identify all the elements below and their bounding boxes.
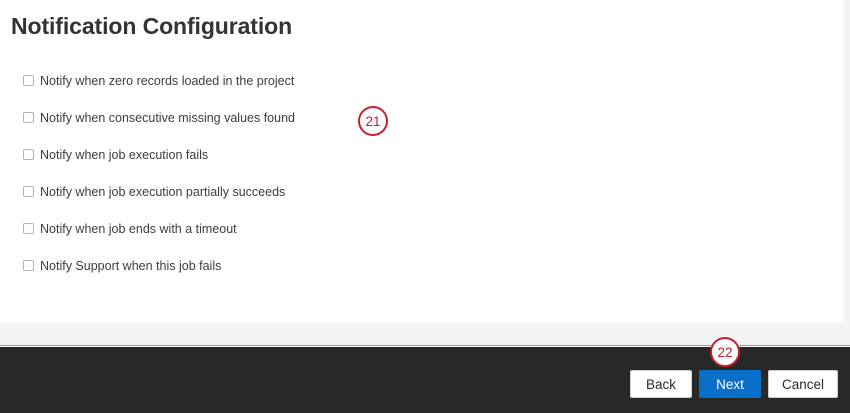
cancel-button[interactable]: Cancel	[768, 370, 838, 398]
right-edge-strip	[844, 0, 850, 322]
checkbox-notify-support[interactable]	[23, 260, 34, 271]
annotation-badge-21: 21	[358, 106, 388, 136]
checkbox-consecutive-missing-values[interactable]	[23, 112, 34, 123]
checkbox-label: Notify when job execution partially succ…	[40, 185, 285, 199]
checkbox-job-partially-succeeds[interactable]	[23, 186, 34, 197]
checkbox-label: Notify when job ends with a timeout	[40, 222, 237, 236]
checkbox-label: Notify when job execution fails	[40, 148, 208, 162]
notification-option-row[interactable]: Notify when job execution fails	[0, 136, 600, 173]
notification-option-row[interactable]: Notify when job ends with a timeout	[0, 210, 600, 247]
checkbox-label: Notify when zero records loaded in the p…	[40, 74, 294, 88]
next-button[interactable]: Next	[699, 370, 761, 398]
notification-options-list: Notify when zero records loaded in the p…	[0, 62, 600, 284]
content-panel: Notification Configuration Notify when z…	[0, 0, 844, 322]
notification-configuration-screen: Notification Configuration Notify when z…	[0, 0, 850, 413]
checkbox-label: Notify when consecutive missing values f…	[40, 111, 295, 125]
notification-option-row[interactable]: Notify when zero records loaded in the p…	[0, 62, 600, 99]
notification-option-row[interactable]: Notify when job execution partially succ…	[0, 173, 600, 210]
footer-button-group: Back Next Cancel	[630, 370, 838, 398]
annotation-badge-22: 22	[710, 337, 740, 367]
page-title: Notification Configuration	[11, 13, 292, 40]
notification-option-row[interactable]: Notify when consecutive missing values f…	[0, 99, 600, 136]
back-button[interactable]: Back	[630, 370, 692, 398]
checkbox-label: Notify Support when this job fails	[40, 259, 221, 273]
checkbox-job-timeout[interactable]	[23, 223, 34, 234]
checkbox-job-execution-fails[interactable]	[23, 149, 34, 160]
notification-option-row[interactable]: Notify Support when this job fails	[0, 247, 600, 284]
checkbox-zero-records[interactable]	[23, 75, 34, 86]
